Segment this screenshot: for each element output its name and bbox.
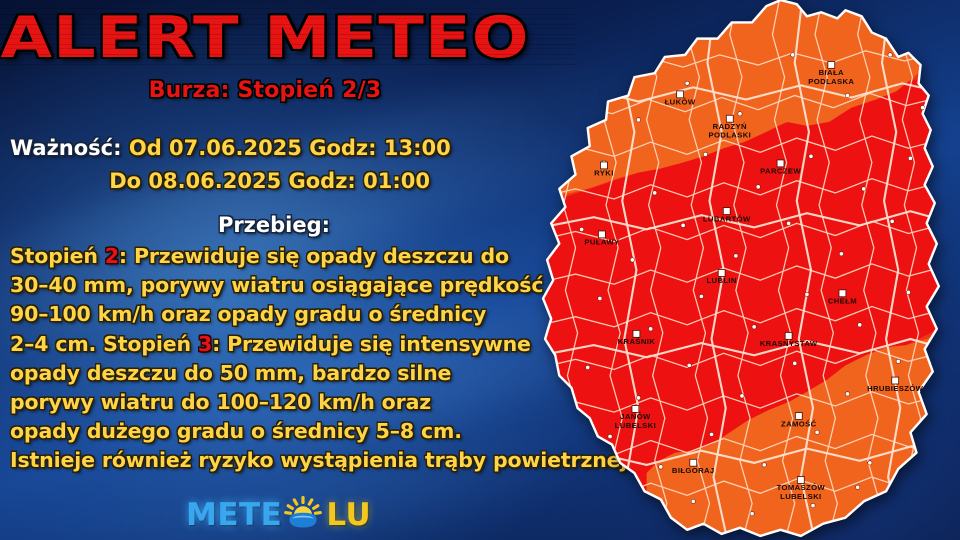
alert-body-run: : Przewiduje się intensywne (212, 332, 531, 356)
city-name: LUBARTÓW (703, 214, 751, 223)
alert-body-run: porywy wiatru do 100–120 km/h oraz (10, 390, 431, 414)
city-name: BIŁGORAJ (672, 466, 715, 475)
city-name: CHEŁM (828, 297, 857, 306)
city-name: ZAMOŚĆ (781, 419, 817, 428)
validity-label: Ważność: (10, 136, 122, 160)
city-name: PUŁAWY (584, 238, 620, 247)
alert-body-run: 30–40 mm, porywy wiatru osiągające prędk… (10, 273, 543, 297)
logo-word-meteo: METE (186, 500, 282, 531)
city-name: HRUBIESZÓW (867, 384, 924, 393)
validity-to-value: Do 08.06.2025 Godz: 01:00 (109, 169, 430, 193)
validity-block: Ważność: Od 07.06.2025 Godz: 13:00 Do 08… (0, 132, 548, 198)
alert-degree-number: 3 (198, 332, 212, 356)
city-name: RYKI (594, 169, 614, 178)
city-name-second-line: LUBELSKI (615, 421, 656, 430)
alert-title: ALERT METEO (0, 8, 575, 68)
city-name-second-line: LUBELSKI (780, 492, 821, 501)
alert-body-run: 90–100 km/h oraz opady gradu o średnicy (10, 302, 486, 326)
alert-degree-number: 2 (105, 244, 119, 268)
meteo-lu-logo[interactable]: METE LU (186, 494, 371, 536)
city-name: KRAŚNIK (618, 337, 656, 346)
logo-word-lu: LU (326, 500, 371, 531)
validity-from-value: Od 07.06.2025 Godz: 13:00 (129, 136, 451, 160)
city-name: PARCZEW (760, 167, 801, 176)
alert-body-run: opady dużego gradu o średnicy 5–8 cm. (10, 419, 462, 443)
alert-body-run: opady deszczu do 50 mm, bardzo silne (10, 361, 451, 385)
alert-body-run: : Przewiduje się opady deszczu do (119, 244, 509, 268)
sun-cloud-icon (283, 495, 323, 535)
alert-subtitle: Burza: Stopień 2/3 (0, 78, 530, 103)
city-name: KRASNYSTAW (760, 339, 818, 348)
course-label: Przebieg: (0, 213, 548, 237)
city-name-second-line: PODLASKI (708, 131, 751, 140)
validity-to-line: Do 08.06.2025 Godz: 01:00 (0, 165, 548, 198)
city-name-second-line: PODLASKA (808, 77, 854, 86)
validity-from-line: Ważność: Od 07.06.2025 Godz: 13:00 (0, 132, 548, 165)
alert-graphic: ALERT METEO Burza: Stopień 2/3 Ważność: … (0, 0, 960, 540)
city-name: LUBLIN (706, 276, 736, 285)
lubelskie-alert-map: BIAŁAPODLASKAŁUKÓWRADZYŃPODLASKIRYKIPARC… (528, 0, 960, 540)
city-name: ŁUKÓW (665, 98, 696, 107)
alert-body-run: Stopień (10, 244, 105, 268)
alert-body-run: 2–4 cm. Stopień (10, 332, 198, 356)
alert-text-panel: ALERT METEO Burza: Stopień 2/3 Ważność: … (0, 0, 560, 540)
